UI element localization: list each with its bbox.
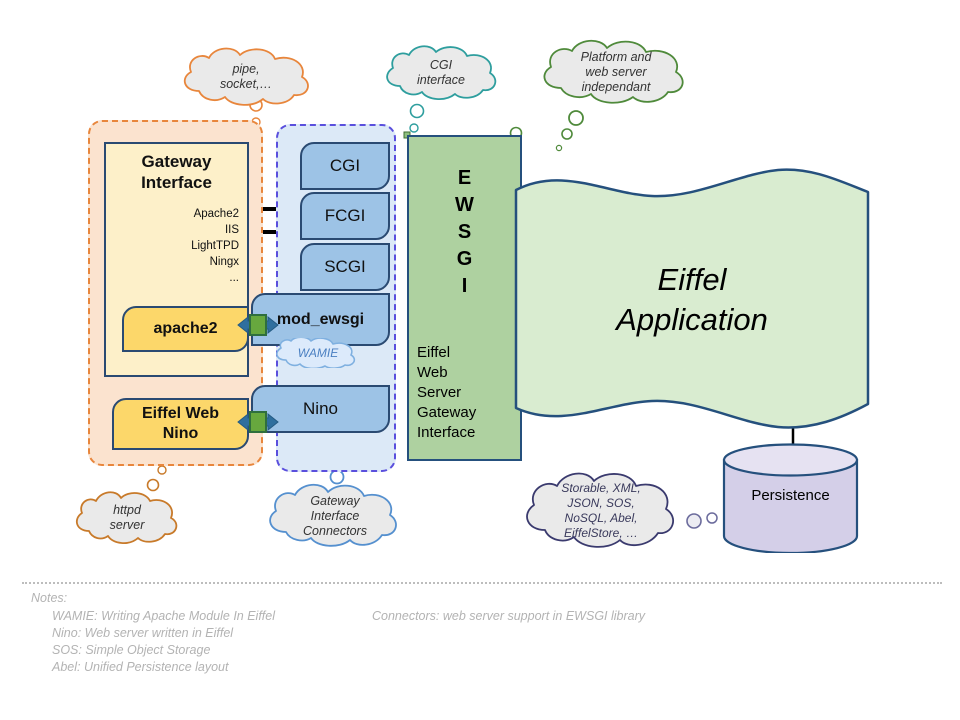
text-line: Web bbox=[417, 363, 476, 383]
cgi-label: CGI bbox=[330, 156, 360, 176]
cgi-connector-box[interactable]: CGI bbox=[300, 142, 390, 190]
cloud-shape-icon bbox=[380, 44, 502, 102]
text-line: W bbox=[409, 192, 520, 219]
note-line: Nino: Web server written in Eiffel bbox=[52, 625, 275, 642]
notes-title: Notes: bbox=[31, 591, 67, 605]
scgi-connector-box[interactable]: SCGI bbox=[300, 243, 390, 291]
notes-right-column: Connectors: web server support in EWSGI … bbox=[372, 608, 645, 625]
mod-ewsgi-label: mod_ewsgi bbox=[277, 311, 364, 329]
cloud-shape-icon bbox=[272, 338, 364, 368]
gateway-server-list: Apache2 IIS LightTPD Ningx ... bbox=[114, 206, 239, 286]
application-label-line1: Eiffel bbox=[512, 260, 872, 300]
apache2-server-box[interactable]: apache2 bbox=[122, 306, 249, 352]
eiffel-web-nino-server-box[interactable]: Eiffel Web Nino bbox=[112, 398, 249, 450]
note-line: Abel: Unified Persistence layout bbox=[52, 659, 275, 676]
cloud-cgi-interface: CGIinterface bbox=[380, 44, 502, 102]
application-label-line2: Application bbox=[512, 300, 872, 340]
nino-label: Nino bbox=[303, 399, 338, 419]
cloud-httpd-server: httpdserver bbox=[70, 490, 184, 546]
cloud-pipe-socket: pipe,socket,… bbox=[176, 46, 316, 108]
gateway-server-item: IIS bbox=[114, 222, 239, 238]
cloud-shape-icon bbox=[176, 46, 316, 108]
cgi-interface-trail bbox=[410, 105, 424, 133]
text-line: Gateway bbox=[417, 403, 476, 423]
gateway-server-item: Apache2 bbox=[114, 206, 239, 222]
eiffel-web-nino-plug-icon bbox=[236, 405, 280, 439]
ewsgi-full-name: EiffelWebServerGatewayInterface bbox=[417, 343, 476, 443]
gateway-server-item: LightTPD bbox=[114, 238, 239, 254]
note-line: WAMIE: Writing Apache Module In Eiffel bbox=[52, 608, 275, 625]
notes-left-column: WAMIE: Writing Apache Module In Eiffel N… bbox=[52, 608, 275, 676]
cloud-platform-independant: Platform andweb serverindependant bbox=[535, 38, 697, 106]
fcgi-connector-box[interactable]: FCGI bbox=[300, 192, 390, 240]
diagram-canvas: Gateway Interface Apache2 IIS LightTPD N… bbox=[0, 0, 960, 720]
fcgi-label: FCGI bbox=[325, 206, 366, 226]
gateway-title-line2: Interface bbox=[106, 172, 247, 193]
text-line: Interface bbox=[417, 423, 476, 443]
eiffel-web-nino-label: Eiffel Web Nino bbox=[142, 404, 219, 444]
persistence-cylinder[interactable]: Persistence bbox=[722, 443, 859, 553]
ewsgi-acronym: EWSGI bbox=[409, 165, 520, 300]
scgi-label: SCGI bbox=[324, 257, 366, 277]
note-line: SOS: Simple Object Storage bbox=[52, 642, 275, 659]
text-line: Eiffel bbox=[417, 343, 476, 363]
platform-independant-trail bbox=[556, 111, 583, 151]
gateway-interface-title: Gateway Interface bbox=[106, 151, 247, 193]
text-line: E bbox=[409, 165, 520, 192]
cloud-gateway-interface-connectors: GatewayInterfaceConnectors bbox=[262, 482, 408, 550]
eiffel-application-label: Eiffel Application bbox=[512, 260, 872, 340]
cloud-wamie: WAMIE bbox=[272, 338, 364, 368]
cloud-shape-icon bbox=[262, 482, 408, 550]
text-line: I bbox=[409, 273, 520, 300]
notes-separator bbox=[22, 582, 942, 584]
note-line: Connectors: web server support in EWSGI … bbox=[372, 608, 645, 625]
text-line: Server bbox=[417, 383, 476, 403]
cloud-shape-icon bbox=[70, 490, 184, 546]
gateway-title-line1: Gateway bbox=[106, 151, 247, 172]
gateway-server-item: ... bbox=[114, 270, 239, 286]
notes-section: Notes: WAMIE: Writing Apache Module In E… bbox=[22, 582, 942, 672]
cloud-shape-icon bbox=[518, 470, 684, 552]
text-line: G bbox=[409, 246, 520, 273]
text-line: S bbox=[409, 219, 520, 246]
persistence-label: Persistence bbox=[722, 487, 859, 504]
apache2-label: apache2 bbox=[153, 319, 217, 339]
apache2-mod-ewsgi-plug-icon bbox=[236, 308, 280, 342]
cloud-shape-icon bbox=[535, 38, 697, 106]
eiffel-application-flag[interactable]: Eiffel Application bbox=[512, 168, 872, 430]
gateway-server-item: Ningx bbox=[114, 254, 239, 270]
ewsgi-panel[interactable]: EWSGI EiffelWebServerGatewayInterface bbox=[407, 135, 522, 461]
cloud-persistence-options: Storable, XML,JSON, SOS,NoSQL, Abel,Eiff… bbox=[518, 470, 684, 552]
